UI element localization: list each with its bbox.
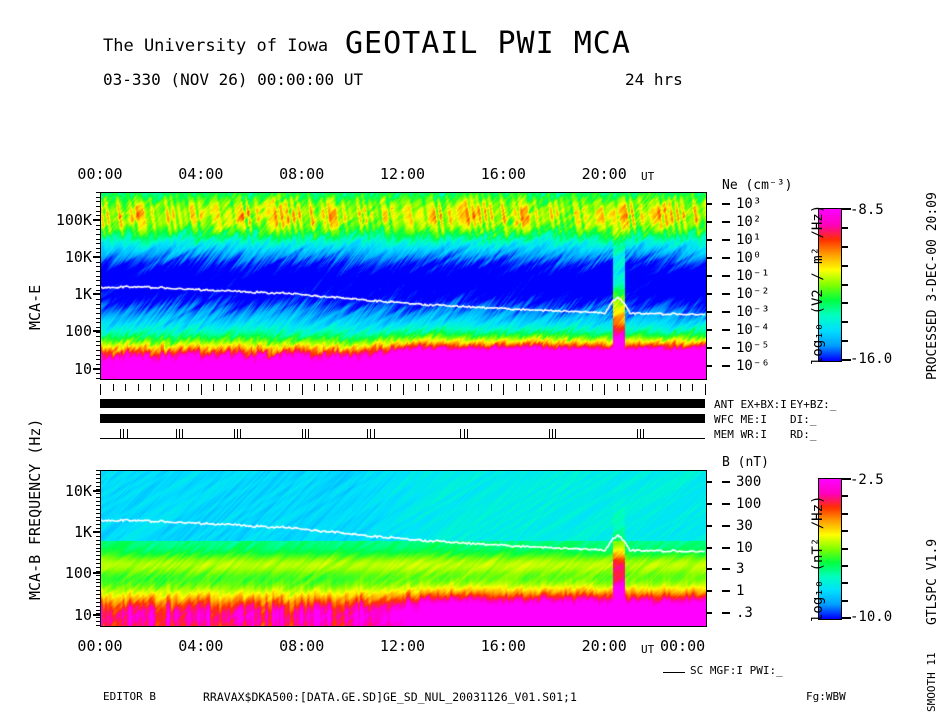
time-tick	[100, 384, 101, 395]
mca-e-spectrogram[interactable]	[100, 192, 707, 380]
axis-minor-tick	[96, 266, 100, 267]
memory-write-tick	[374, 429, 375, 438]
axis-minor-tick	[96, 509, 100, 510]
status-label-right: RD:_	[790, 428, 817, 441]
frequency-tick-label: 100	[40, 322, 92, 340]
status-label-left: MEM WR:I	[714, 428, 767, 441]
mca-b-colorbar-title: log₁₀ (nT² /Hz)	[810, 496, 826, 622]
status-bar	[100, 399, 705, 408]
memory-write-tick	[370, 429, 371, 438]
time-tick-label: 04:00	[178, 165, 223, 183]
axis-minor-tick	[96, 470, 100, 471]
time-tick	[541, 384, 542, 391]
right-axis-tick	[722, 239, 730, 241]
axis-minor-tick	[96, 234, 100, 235]
time-tick	[516, 384, 517, 391]
mca-e-colorbar-min: -16.0	[850, 351, 892, 367]
axis-minor-tick	[96, 364, 100, 365]
axis-minor-tick	[96, 299, 100, 300]
time-tick-label: 08:00	[279, 637, 324, 655]
right-axis-inner-tick	[706, 365, 712, 367]
time-tick	[478, 384, 479, 391]
axis-minor-tick	[96, 555, 100, 556]
ne-axis-title: Ne (cm⁻³)	[722, 178, 792, 193]
axis-minor-tick	[96, 294, 100, 295]
right-axis-tick-label: 100	[736, 496, 761, 512]
axis-minor-tick	[96, 225, 100, 226]
right-axis-inner-tick	[706, 590, 712, 592]
axis-minor-tick	[96, 197, 100, 198]
right-axis-inner-tick	[706, 329, 712, 331]
status-label-right: DI:_	[790, 413, 817, 426]
colorbar-tick	[842, 340, 848, 342]
time-tick-label: 20:00	[582, 637, 627, 655]
mca-e-colorbar-title: log₁₀ (V2 / m² /Hz)	[810, 205, 826, 365]
time-tick	[453, 384, 454, 391]
memory-write-tick	[308, 429, 309, 438]
memory-write-tick	[234, 429, 235, 438]
axis-minor-tick	[96, 211, 100, 212]
software-version: GTLSPC V1.9	[925, 539, 940, 625]
sc-line-dash	[663, 672, 685, 673]
colorbar-tick	[842, 513, 848, 515]
axis-minor-tick	[96, 486, 100, 487]
right-axis-tick	[722, 293, 730, 295]
time-tick	[617, 384, 618, 391]
status-bar	[100, 414, 705, 423]
axis-minor-tick	[96, 220, 100, 221]
axis-minor-tick	[96, 606, 100, 607]
time-tick-label: 20:00	[582, 165, 627, 183]
time-tick	[554, 384, 555, 391]
axis-minor-tick	[96, 586, 100, 587]
frequency-tick-label: 100K	[40, 211, 92, 229]
axis-minor-tick	[96, 332, 100, 333]
right-axis-tick	[722, 568, 730, 570]
right-axis-tick-label: 10²	[736, 214, 761, 230]
axis-minor-tick	[96, 280, 100, 281]
memory-write-tick	[302, 429, 303, 438]
axis-minor-tick	[96, 373, 100, 374]
axis-minor-tick	[96, 497, 100, 498]
right-axis-inner-tick	[706, 293, 712, 295]
memory-write-tick	[240, 429, 241, 438]
axis-minor-tick	[96, 304, 100, 305]
right-axis-tick	[722, 547, 730, 549]
frequency-tick-label: 10	[40, 606, 92, 624]
right-axis-tick-label: 10⁻³	[736, 304, 770, 320]
right-axis-tick-label: 300	[736, 474, 761, 490]
right-axis-inner-tick	[706, 347, 712, 349]
colorbar-tick	[842, 565, 848, 567]
memory-write-tick	[464, 429, 465, 438]
axis-minor-tick	[96, 257, 100, 258]
time-tick	[390, 384, 391, 391]
axis-minor-tick	[96, 206, 100, 207]
axis-minor-tick	[96, 243, 100, 244]
frequency-tick-label: 1K	[40, 285, 92, 303]
right-axis-tick-label: 10³	[736, 196, 761, 212]
memory-write-tick	[467, 429, 468, 438]
memory-write-tick	[643, 429, 644, 438]
time-tick	[339, 384, 340, 391]
status-label-left: WFC ME:I	[714, 413, 767, 426]
time-tick	[289, 384, 290, 391]
memory-write-tick	[460, 429, 461, 438]
time-tick	[680, 384, 681, 391]
axis-minor-tick	[96, 524, 100, 525]
colorbar-tick	[842, 617, 851, 619]
right-axis-tick-label: .3	[736, 605, 753, 621]
axis-minor-tick	[96, 350, 100, 351]
colorbar-tick	[842, 359, 851, 361]
axis-minor-tick	[96, 594, 100, 595]
time-tick	[403, 384, 404, 395]
memory-write-tick	[182, 429, 183, 438]
mca-e-colorbar-max: -8.5	[850, 202, 884, 218]
colorbar-tick	[842, 321, 848, 323]
axis-minor-tick	[96, 327, 100, 328]
axis-minor-tick	[96, 215, 100, 216]
frequency-tick-label: 1K	[40, 523, 92, 541]
axis-minor-tick	[96, 201, 100, 202]
time-tick	[440, 384, 441, 391]
time-tick-label: 16:00	[481, 637, 526, 655]
axis-minor-tick	[96, 567, 100, 568]
time-tick	[201, 384, 202, 395]
time-tick	[327, 384, 328, 391]
axis-minor-tick	[96, 528, 100, 529]
axis-minor-tick	[96, 322, 100, 323]
memory-write-tick	[179, 429, 180, 438]
time-tick	[667, 384, 668, 391]
time-tick	[629, 384, 630, 391]
right-axis-tick	[722, 257, 730, 259]
right-axis-inner-tick	[706, 275, 712, 277]
right-axis-inner-tick	[706, 481, 712, 483]
time-tick	[566, 384, 567, 391]
time-tick	[642, 384, 643, 391]
axis-minor-tick	[96, 239, 100, 240]
time-tick-label: 04:00	[178, 637, 223, 655]
colorbar-tick	[842, 227, 848, 229]
memory-write-tick	[637, 429, 638, 438]
axis-minor-tick	[96, 582, 100, 583]
time-tick	[692, 384, 693, 391]
right-axis-tick	[722, 590, 730, 592]
axis-minor-tick	[96, 544, 100, 545]
colorbar-tick	[842, 265, 848, 267]
memory-write-tick	[237, 429, 238, 438]
axis-minor-tick	[96, 290, 100, 291]
right-axis-tick-label: 10	[736, 540, 753, 556]
time-tick	[226, 384, 227, 391]
colorbar-tick	[842, 208, 851, 210]
time-tick-label: 08:00	[279, 165, 324, 183]
axis-minor-tick	[96, 474, 100, 475]
colorbar-tick	[842, 530, 848, 532]
axis-minor-tick	[96, 548, 100, 549]
memory-write-tick	[120, 429, 121, 438]
axis-minor-tick	[96, 276, 100, 277]
memory-write-tick	[123, 429, 124, 438]
bottom-time-unit: UT	[641, 643, 654, 656]
time-tick-label: 12:00	[380, 637, 425, 655]
time-tick	[176, 384, 177, 391]
time-tick	[592, 384, 593, 391]
memory-write-tick	[305, 429, 306, 438]
time-tick	[428, 384, 429, 391]
axis-minor-tick	[96, 559, 100, 560]
colorbar-tick	[842, 495, 848, 497]
right-axis-tick	[722, 481, 730, 483]
right-axis-inner-tick	[706, 568, 712, 570]
duration-label: 24 hrs	[625, 70, 683, 89]
frequency-tick-label: 10K	[40, 482, 92, 500]
time-tick	[377, 384, 378, 391]
time-tick	[314, 384, 315, 391]
time-tick	[503, 384, 504, 395]
axis-minor-tick	[96, 571, 100, 572]
time-tick	[150, 384, 151, 391]
status-baseline	[100, 438, 705, 439]
fg-label: Fg:WBW	[806, 690, 846, 703]
axis-minor-tick	[96, 590, 100, 591]
right-axis-inner-tick	[706, 239, 712, 241]
axis-minor-tick	[96, 271, 100, 272]
memory-write-tick	[127, 429, 128, 438]
axis-minor-tick	[96, 602, 100, 603]
right-axis-tick-label: 30	[736, 518, 753, 534]
editor-label: EDITOR B	[103, 690, 156, 703]
time-tick	[302, 384, 303, 395]
colorbar-tick	[842, 600, 848, 602]
right-axis-tick	[722, 612, 730, 614]
axis-minor-tick	[96, 378, 100, 379]
date-line: 03-330 (NOV 26) 00:00:00 UT	[103, 70, 363, 89]
axis-minor-tick	[96, 285, 100, 286]
right-axis-inner-tick	[706, 311, 712, 313]
colorbar-tick	[842, 302, 848, 304]
time-tick	[251, 384, 252, 391]
data-file-path: RRAVAX$DKA500:[DATA.GE.SD]GE_SD_NUL_2003…	[203, 690, 577, 704]
axis-minor-tick	[96, 341, 100, 342]
right-axis-tick-label: 10⁰	[736, 250, 761, 266]
right-axis-tick-label: 10⁻²	[736, 286, 770, 302]
top-time-unit: UT	[641, 170, 654, 183]
time-tick	[466, 384, 467, 391]
axis-minor-tick	[96, 505, 100, 506]
axis-minor-tick	[96, 520, 100, 521]
time-tick	[239, 384, 240, 391]
processed-timestamp: PROCESSED 3-DEC-00 20:09	[925, 192, 940, 380]
time-tick	[604, 384, 605, 395]
time-tick-label: 16:00	[481, 165, 526, 183]
time-tick-label: 00:00	[77, 637, 122, 655]
right-axis-inner-tick	[706, 503, 712, 505]
right-axis-tick-label: 10⁻¹	[736, 268, 770, 284]
axis-minor-tick	[96, 598, 100, 599]
axis-minor-tick	[96, 540, 100, 541]
frequency-tick-label: 100	[40, 564, 92, 582]
right-axis-tick-label: 10⁻⁶	[736, 358, 770, 374]
axis-minor-tick	[96, 369, 100, 370]
axis-minor-tick	[96, 613, 100, 614]
axis-minor-tick	[96, 563, 100, 564]
colorbar-tick	[842, 478, 851, 480]
time-tick-label: 12:00	[380, 165, 425, 183]
right-axis-tick-label: 3	[736, 561, 744, 577]
mca-b-colorbar-max: -2.5	[850, 472, 884, 488]
right-axis-tick-label: 10¹	[736, 232, 761, 248]
time-tick	[125, 384, 126, 391]
axis-minor-tick	[96, 248, 100, 249]
right-axis-tick	[722, 203, 730, 205]
time-tick	[138, 384, 139, 391]
frequency-axis-title: FREQUENCY (Hz)	[26, 419, 44, 545]
axis-minor-tick	[96, 551, 100, 552]
time-tick	[163, 384, 164, 391]
axis-minor-tick	[96, 579, 100, 580]
axis-minor-tick	[96, 575, 100, 576]
sc-status-line: SC MGF:I PWI:_	[690, 664, 783, 677]
status-label-left: ANT EX+BX:I	[714, 398, 787, 411]
right-axis-tick-label: 10⁻⁵	[736, 340, 770, 356]
axis-minor-tick	[96, 493, 100, 494]
right-axis-inner-tick	[706, 203, 712, 205]
time-tick	[352, 384, 353, 391]
right-axis-tick	[722, 525, 730, 527]
axis-minor-tick	[96, 262, 100, 263]
right-axis-inner-tick	[706, 612, 712, 614]
axis-minor-tick	[96, 501, 100, 502]
axis-minor-tick	[96, 359, 100, 360]
axis-minor-tick	[96, 355, 100, 356]
time-tick	[113, 384, 114, 391]
time-tick	[188, 384, 189, 391]
memory-write-tick	[549, 429, 550, 438]
memory-write-tick	[552, 429, 553, 438]
axis-minor-tick	[96, 489, 100, 490]
axis-minor-tick	[96, 482, 100, 483]
colorbar-tick	[842, 246, 848, 248]
time-tick	[276, 384, 277, 391]
frequency-tick-label: 10	[40, 360, 92, 378]
right-axis-tick	[722, 503, 730, 505]
right-axis-tick-label: 10⁻⁴	[736, 322, 770, 338]
time-tick-label: 00:00	[77, 165, 122, 183]
smooth-label: SMOOTH 11	[925, 652, 938, 712]
bottom-time-end-label: 00:00	[660, 637, 705, 655]
axis-minor-tick	[96, 478, 100, 479]
axis-minor-tick	[96, 192, 100, 193]
axis-minor-tick	[96, 532, 100, 533]
axis-minor-tick	[96, 252, 100, 253]
right-axis-inner-tick	[706, 221, 712, 223]
axis-minor-tick	[96, 610, 100, 611]
time-tick	[579, 384, 580, 391]
time-tick	[365, 384, 366, 391]
axis-minor-tick	[96, 536, 100, 537]
right-axis-tick	[722, 275, 730, 277]
mca-e-panel-label: MCA-E	[26, 285, 44, 330]
memory-write-tick	[367, 429, 368, 438]
time-tick	[529, 384, 530, 391]
axis-minor-tick	[96, 517, 100, 518]
right-axis-tick	[722, 221, 730, 223]
right-axis-inner-tick	[706, 257, 712, 259]
time-tick	[213, 384, 214, 391]
status-label-right: EY+BZ:_	[790, 398, 836, 411]
colorbar-tick	[842, 582, 848, 584]
colorbar-tick	[842, 284, 848, 286]
time-tick	[705, 384, 706, 395]
mca-b-colorbar-min: -10.0	[850, 609, 892, 625]
time-tick	[491, 384, 492, 391]
right-axis-inner-tick	[706, 525, 712, 527]
right-axis-tick	[722, 311, 730, 313]
time-tick	[415, 384, 416, 391]
right-axis-tick	[722, 365, 730, 367]
axis-minor-tick	[96, 318, 100, 319]
memory-write-tick	[176, 429, 177, 438]
colorbar-tick	[842, 548, 848, 550]
institution-title: The University of Iowa	[103, 36, 328, 56]
axis-minor-tick	[96, 345, 100, 346]
axis-minor-tick	[96, 308, 100, 309]
right-axis-tick-label: 1	[736, 583, 744, 599]
mca-b-spectrogram[interactable]	[100, 470, 707, 627]
mca-b-panel-label: MCA-B	[26, 555, 44, 600]
time-tick	[655, 384, 656, 391]
right-axis-tick	[722, 347, 730, 349]
axis-minor-tick	[96, 621, 100, 622]
axis-minor-tick	[96, 336, 100, 337]
page-title: GEOTAIL PWI MCA	[345, 26, 631, 61]
memory-write-tick	[555, 429, 556, 438]
right-axis-inner-tick	[706, 547, 712, 549]
axis-minor-tick	[96, 513, 100, 514]
axis-minor-tick	[96, 313, 100, 314]
axis-minor-tick	[96, 229, 100, 230]
axis-minor-tick	[96, 617, 100, 618]
time-tick	[264, 384, 265, 391]
right-axis-tick	[722, 329, 730, 331]
frequency-tick-label: 10K	[40, 248, 92, 266]
memory-write-tick	[640, 429, 641, 438]
axis-minor-tick	[96, 625, 100, 626]
b-axis-title: B (nT)	[722, 455, 769, 470]
